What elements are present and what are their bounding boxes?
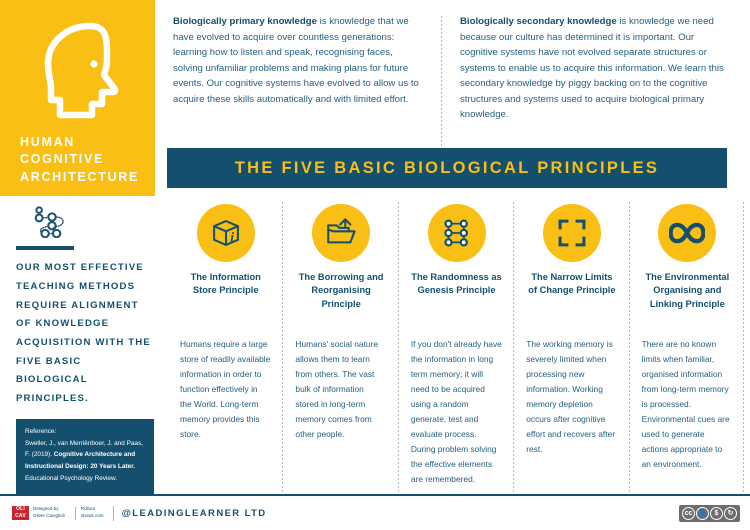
reference-box: Reference: Sweller, J., van Merriënboer,… — [16, 419, 154, 494]
reference-year: F. (2019). — [25, 451, 54, 458]
intro-primary-lead: Biologically primary knowledge — [173, 16, 317, 27]
principle-body-3: If you don't already have the informatio… — [411, 337, 502, 487]
reference-citation: Sweller, J., van Merriënboer, J. and Paa… — [25, 438, 145, 485]
credit-divider — [75, 507, 76, 520]
principle-column-3: The Randomness as Genesis Principle If y… — [398, 200, 513, 494]
principle-icon-5 — [658, 204, 716, 262]
intro-secondary-lead: Biologically secondary knowledge — [460, 16, 617, 27]
brand-title: HUMAN COGNITIVE ARCHITECTURE — [20, 134, 141, 186]
information-box-icon: i — [209, 216, 243, 250]
principle-column-2: The Borrowing and Reorganising Principle… — [282, 200, 397, 494]
principle-column-1: i The Information Store Principle Humans… — [167, 200, 282, 494]
tool-credit: Rollout shows.com — [81, 506, 104, 520]
section-banner: THE FIVE BASIC BIOLOGICAL PRINCIPLES — [167, 148, 727, 188]
designer-credit: Designed by Oliver Caviglioli — [33, 506, 65, 520]
principle-title-1: The Information Store Principle — [180, 271, 271, 311]
intro-secondary-text: is knowledge we need because our culture… — [460, 16, 724, 120]
cc-nc-icon: $ — [710, 507, 723, 520]
footer-divider — [113, 506, 114, 521]
brand-panel: HUMAN COGNITIVE ARCHITECTURE — [0, 0, 155, 196]
main-row: OUR MOST EFFECTIVE TEACHING METHODS REQU… — [0, 196, 750, 494]
principle-column-4: The Narrow Limits of Change Principle Th… — [513, 200, 628, 494]
folder-arrow-icon — [324, 216, 358, 250]
principle-icon-3 — [428, 204, 486, 262]
principle-icon-4 — [543, 204, 601, 262]
svg-text:i: i — [230, 230, 234, 245]
cc-sa-icon: ↻ — [724, 507, 737, 520]
principle-body-1: Humans require a large store of readily … — [180, 337, 271, 442]
principle-title-5: The Environmental Organising and Linking… — [642, 271, 733, 311]
principle-icon-1: i — [197, 204, 255, 262]
principle-title-4: The Narrow Limits of Change Principle — [526, 271, 617, 311]
infinity-icon — [669, 215, 705, 251]
sidebar-heading: OUR MOST EFFECTIVE TEACHING METHODS REQU… — [16, 259, 155, 409]
principle-body-2: Humans' social nature allows them to lea… — [295, 337, 386, 442]
reference-label: Reference: — [25, 426, 145, 438]
tool-label: Rollout — [81, 506, 104, 513]
footer-bar: OLI CAV Designed by Oliver Caviglioli Ro… — [0, 494, 750, 530]
principle-body-4: The working memory is severely limited w… — [526, 337, 617, 457]
crop-frame-icon — [555, 216, 589, 250]
designed-by-name: Oliver Caviglioli — [33, 513, 65, 520]
designer-logo-icon: OLI CAV — [12, 506, 29, 520]
head-profile-icon — [20, 18, 128, 124]
principle-icon-2 — [312, 204, 370, 262]
designer-logo-line1: OLI — [16, 506, 25, 513]
principle-column-5: The Environmental Organising and Linking… — [629, 200, 744, 494]
sidebar-panel: OUR MOST EFFECTIVE TEACHING METHODS REQU… — [0, 200, 167, 494]
principle-title-2: The Borrowing and Reorganising Principle — [295, 271, 386, 311]
reference-authors: Sweller, J., van Merriënboer, J. and Paa… — [25, 440, 143, 447]
footer-handle[interactable]: @LEADINGLEARNER LTD — [122, 508, 267, 519]
reference-journal: Educational Psychology Review. — [25, 475, 117, 482]
principle-title-3: The Randomness as Genesis Principle — [411, 271, 502, 311]
network-graph-icon — [440, 216, 474, 250]
tool-name: shows.com — [81, 513, 104, 520]
principle-body-5: There are no known limits when familiar,… — [642, 337, 733, 472]
sidebar-rule — [16, 246, 74, 250]
creative-commons-badge[interactable]: cc 👤 $ ↻ — [679, 505, 740, 522]
designed-by-label: Designed by — [33, 506, 65, 513]
banner-title: THE FIVE BASIC BIOLOGICAL PRINCIPLES — [235, 159, 659, 178]
infographic-page: HUMAN COGNITIVE ARCHITECTURE Biologicall… — [0, 0, 750, 530]
intro-primary-text: is knowledge that we have evolved to acq… — [173, 16, 419, 105]
cc-circle-icon: cc — [682, 507, 695, 520]
principles-columns: i The Information Store Principle Humans… — [167, 200, 750, 494]
cc-by-icon: 👤 — [696, 507, 709, 520]
network-nodes-icon — [16, 206, 88, 238]
designer-logo-line2: CAV — [15, 513, 26, 520]
